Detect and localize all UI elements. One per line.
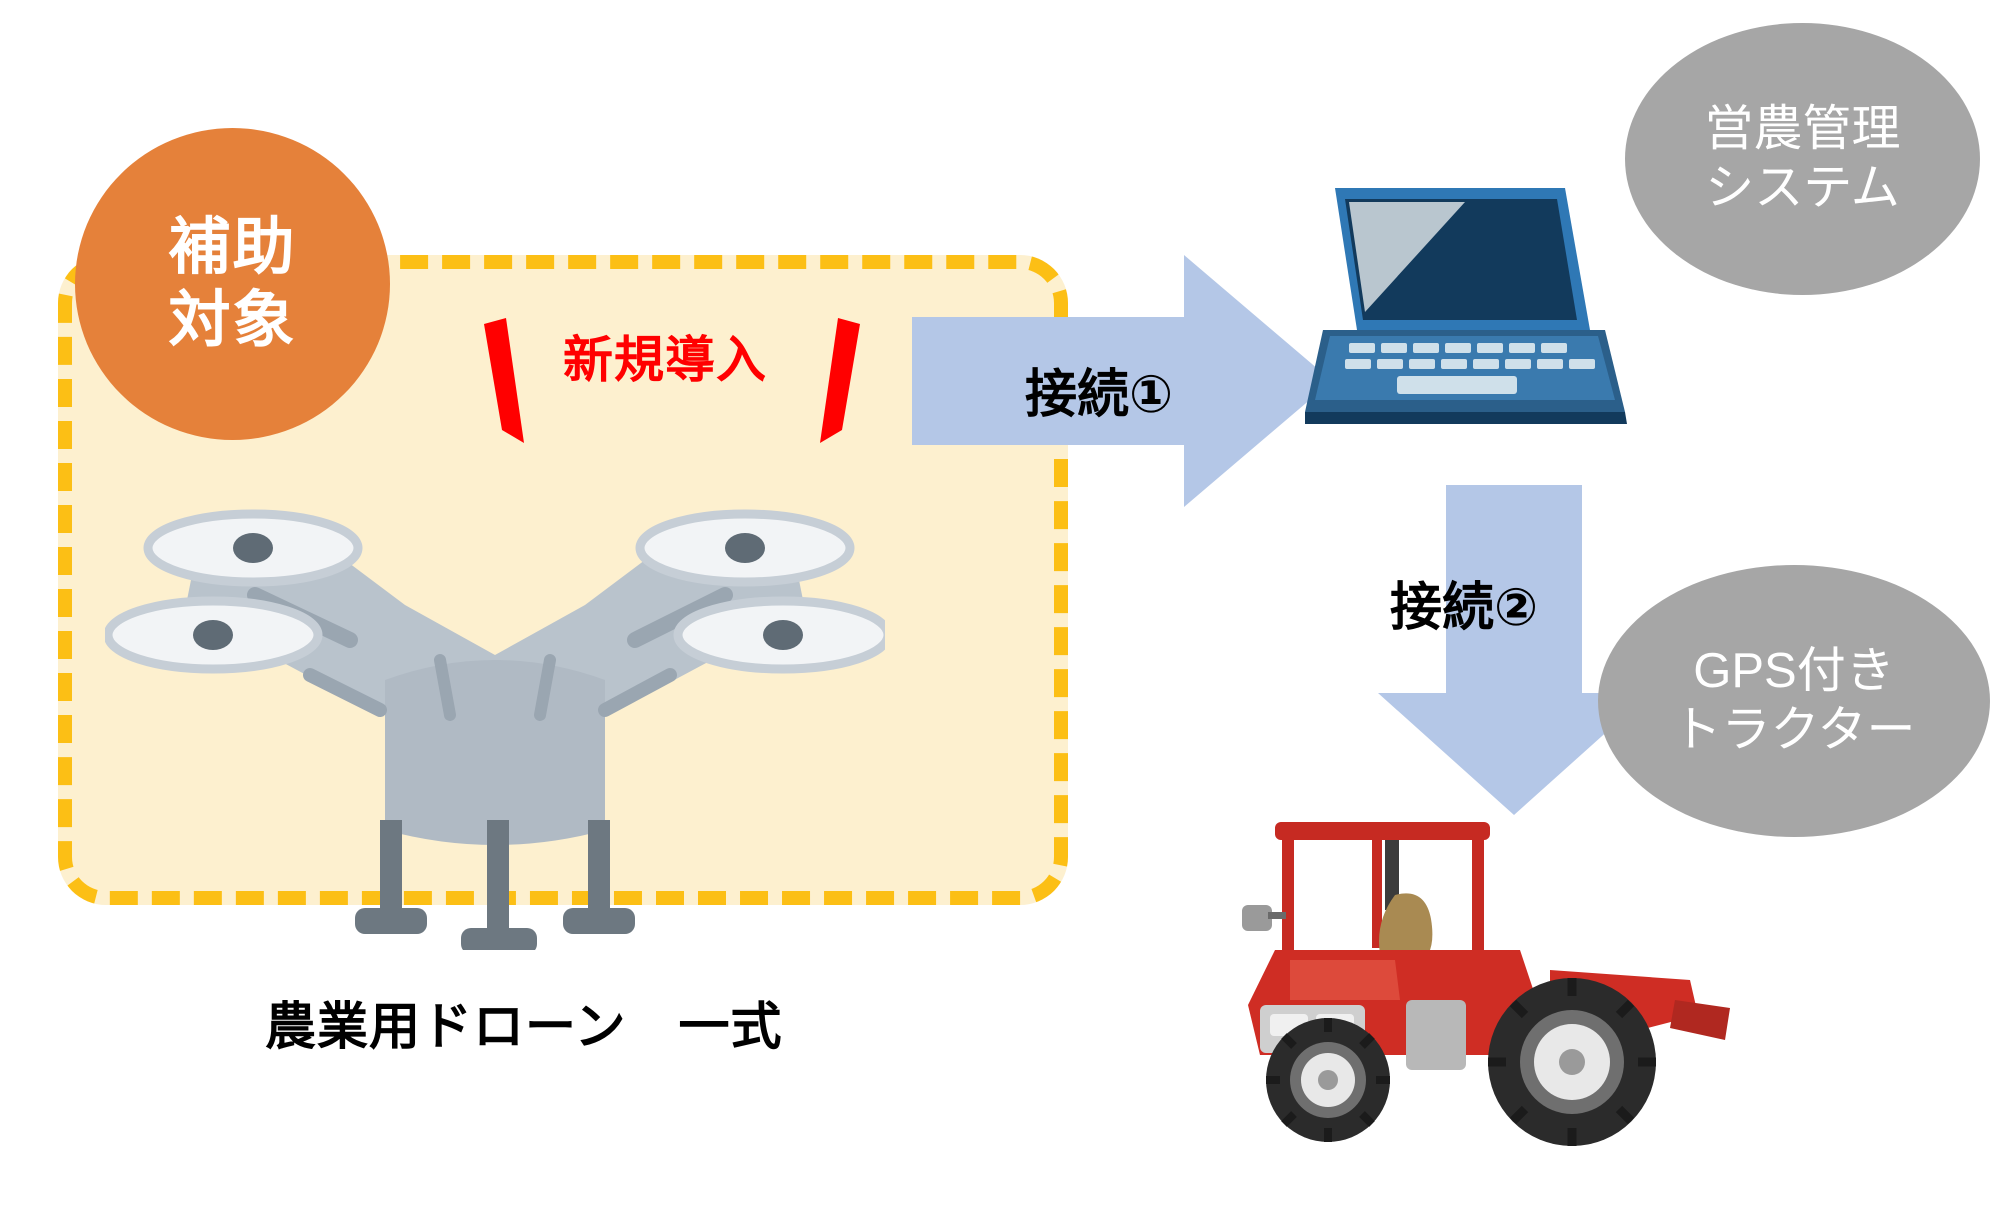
connect-2-label: 接続② xyxy=(1390,565,1538,640)
system-label-line2: システム xyxy=(1705,159,1900,218)
node-gps-tractor: GPS付き トラクター xyxy=(1598,565,1990,837)
subsidy-badge-line1: 補助 xyxy=(168,211,296,284)
tractor-label-line2: トラクター xyxy=(1672,701,1915,760)
diagram-canvas: 農業用ドローン 一式 新規導入 補助 対象 接続① xyxy=(0,0,2000,1219)
tractor-icon xyxy=(1220,800,1750,1150)
new-introduction-label: 新規導入 xyxy=(563,320,767,392)
laptop-icon xyxy=(1305,180,1635,440)
node-farm-management-system: 営農管理 システム xyxy=(1625,23,1980,295)
subsidy-target-badge: 補助 対象 xyxy=(75,128,390,440)
system-label-line1: 営農管理 xyxy=(1704,100,1900,159)
subsidy-badge-line2: 対象 xyxy=(168,284,296,357)
connect-1-label: 接続① xyxy=(1025,352,1173,427)
drone-caption: 農業用ドローン 一式 xyxy=(265,985,782,1059)
agricultural-drone-icon xyxy=(105,500,885,950)
tractor-label-line1: GPS付き xyxy=(1693,642,1894,701)
connect-2-arrow-icon xyxy=(1378,485,1650,815)
red-wedge-right-icon xyxy=(820,318,860,443)
red-wedge-left-icon xyxy=(484,318,524,443)
